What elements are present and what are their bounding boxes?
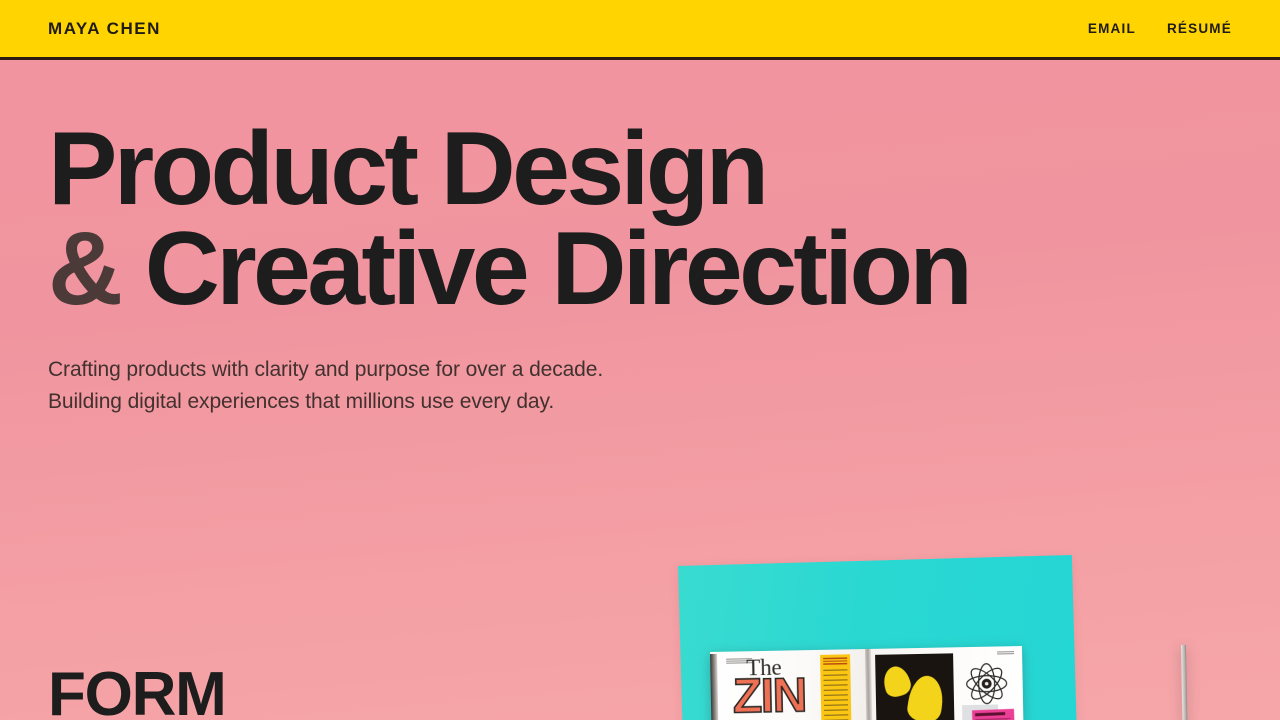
atom-diagram-icon [963,660,1010,707]
magazine-black-panel [875,653,955,720]
magazine-left-page: The ZIN [710,649,867,720]
magazine-right-page [871,646,1024,720]
headline-ampersand: & [48,211,119,327]
section-heading-form: FORM [48,664,226,720]
page-root: MAYA CHEN EMAIL RÉSUMÉ Product Design & … [0,0,1280,720]
hero-section: Product Design & Creative Direction Craf… [48,120,969,418]
top-navigation-bar: MAYA CHEN EMAIL RÉSUMÉ [0,0,1280,60]
open-magazine: The ZIN [710,646,1024,720]
sticker-title-line [975,712,1005,716]
magazine-pink-sticker [972,709,1015,720]
magazine-spine-shadow [710,654,719,720]
magazine-word-zin: ZIN [732,672,806,720]
nav-links: EMAIL RÉSUMÉ [1088,21,1232,36]
sidebar-body-lines [823,669,848,720]
yellow-pear-shape-large-icon [906,674,947,720]
brand-name[interactable]: MAYA CHEN [48,19,161,39]
sidebar-heading-lines [823,657,847,665]
subtitle-line-1: Crafting products with clarity and purpo… [48,358,603,381]
subtitle-line-2: Building digital experiences that millio… [48,390,554,413]
nav-link-resume[interactable]: RÉSUMÉ [1167,21,1232,36]
nav-link-email[interactable]: EMAIL [1088,21,1136,36]
yellow-pear-shape-small-icon [880,663,914,699]
hero-photo: The ZIN [676,560,1080,720]
magazine-folio-number [997,651,1014,655]
page-title: Product Design & Creative Direction [48,120,969,320]
headline-line-1: Product Design [48,111,766,227]
hero-subtitle: Crafting products with clarity and purpo… [48,354,969,418]
magazine-outer-page-edge [1181,645,1188,720]
headline-line-2: Creative Direction [119,211,969,327]
magazine-yellow-sidebar [820,654,852,720]
